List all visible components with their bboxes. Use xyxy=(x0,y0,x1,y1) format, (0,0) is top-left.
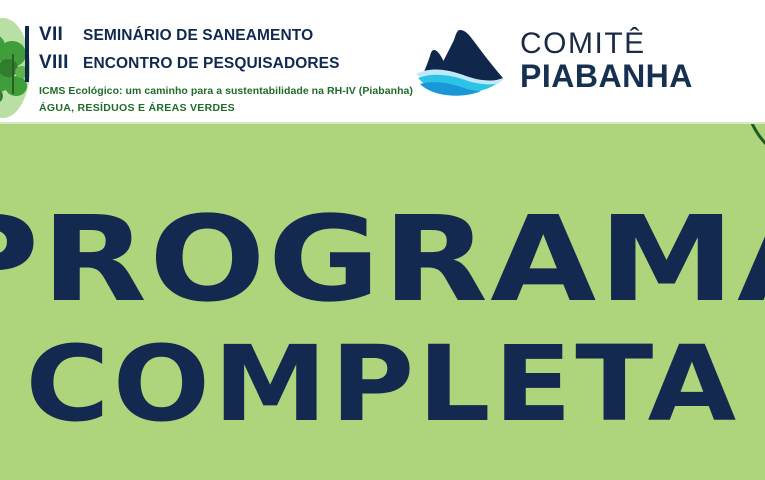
committee-name-top: COMITÊ xyxy=(520,29,693,59)
event-topics-text: ÁGUA, RESÍDUOS E ÁREAS VERDES xyxy=(39,102,405,114)
event-accent-bar xyxy=(25,26,29,82)
event-line-seminario: VII SEMINÁRIO DE SANEAMENTO xyxy=(39,24,405,52)
event-line-encontro: VIII ENCONTRO DE PESQUISADORES xyxy=(39,52,405,80)
headline-primary: PROGRAMAÇÃO xyxy=(0,200,765,318)
seminario-label: SEMINÁRIO DE SANEAMENTO xyxy=(83,27,313,45)
committee-logo: COMITÊ PIABANHA xyxy=(408,22,693,98)
event-theme-text: ICMS Ecológico: um caminho para a susten… xyxy=(39,85,405,97)
header-bar: VII SEMINÁRIO DE SANEAMENTO VIII ENCONTR… xyxy=(0,0,765,124)
committee-name-bottom: PIABANHA xyxy=(520,60,693,92)
seminario-numeral: VII xyxy=(39,24,83,46)
headline-secondary: COMPLETA xyxy=(0,332,765,436)
encontro-numeral: VIII xyxy=(39,52,83,74)
poster-canvas: VII SEMINÁRIO DE SANEAMENTO VIII ENCONTR… xyxy=(0,0,765,480)
headline-area: PROGRAMAÇÃO COMPLETA xyxy=(0,124,765,480)
mountain-wave-icon xyxy=(408,22,514,98)
event-title-block: VII SEMINÁRIO DE SANEAMENTO VIII ENCONTR… xyxy=(25,24,405,114)
encontro-label: ENCONTRO DE PESQUISADORES xyxy=(83,55,340,73)
